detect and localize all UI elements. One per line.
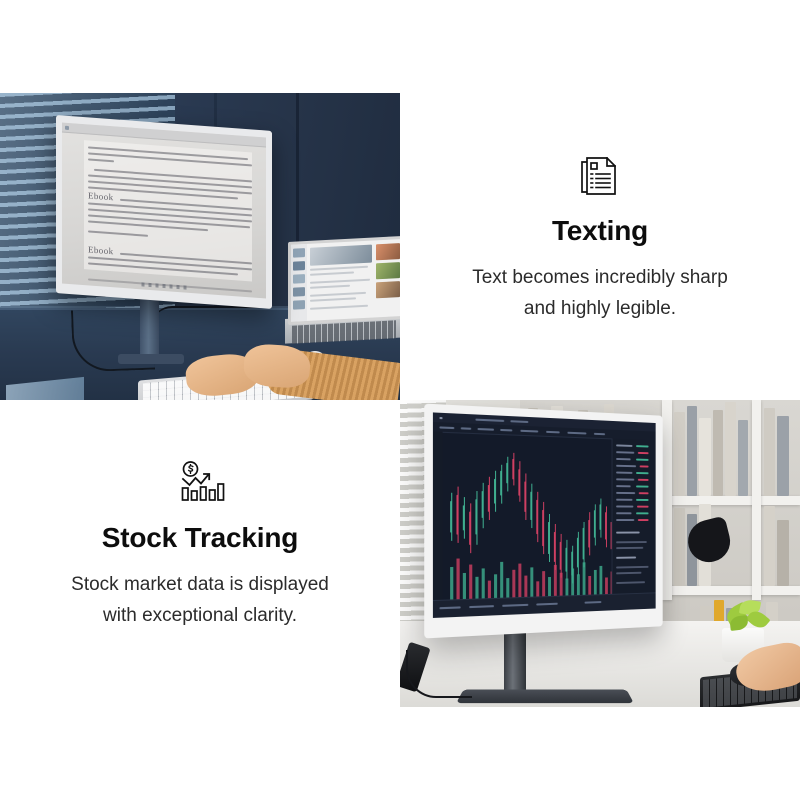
photo-desk-text-document: Ebook Ebook (0, 93, 400, 400)
candlestick-chart (443, 432, 613, 601)
laptop-cable (152, 306, 262, 326)
watchlist-panel[interactable] (612, 438, 656, 594)
feature-grid-page: Ebook Ebook (0, 0, 800, 800)
feature-stock-tracking: Stock Tracking Stock market data is disp… (0, 400, 400, 707)
feature-description-line1: Text becomes incredibly sharp (472, 267, 728, 288)
feature-title: Texting (552, 216, 648, 247)
feature-description-line2: and highly legible. (524, 298, 676, 319)
monitor-stand-neck (140, 295, 159, 358)
price-axis (433, 431, 443, 601)
monitor-bezel: Ebook Ebook (56, 115, 272, 309)
photo-desk-stock-chart (400, 400, 800, 707)
monitor-stand-base (456, 690, 634, 704)
feature-title: Stock Tracking (102, 523, 298, 554)
laptop-screen (288, 236, 400, 325)
monitor-screen: Ebook Ebook (62, 123, 266, 299)
monitor-stand-neck (504, 628, 526, 690)
monitor-cable (406, 650, 472, 698)
document-toolbar (142, 282, 187, 289)
monitor-bezel (424, 404, 662, 639)
document-page: Ebook Ebook (84, 140, 252, 281)
stock-chart-dollar-icon (174, 457, 226, 509)
monitor-stand-base (118, 354, 184, 364)
feature-description-line2: with exceptional clarity. (103, 605, 297, 626)
documents-icon (574, 150, 626, 202)
feature-description-line1: Stock market data is displayed (71, 574, 329, 595)
stock-chart-screen (433, 412, 656, 618)
feature-description: Text becomes incredibly sharp and highly… (472, 263, 728, 325)
feature-description: Stock market data is displayed with exce… (71, 570, 329, 632)
feature-texting: Texting Text becomes incredibly sharp an… (400, 93, 800, 400)
